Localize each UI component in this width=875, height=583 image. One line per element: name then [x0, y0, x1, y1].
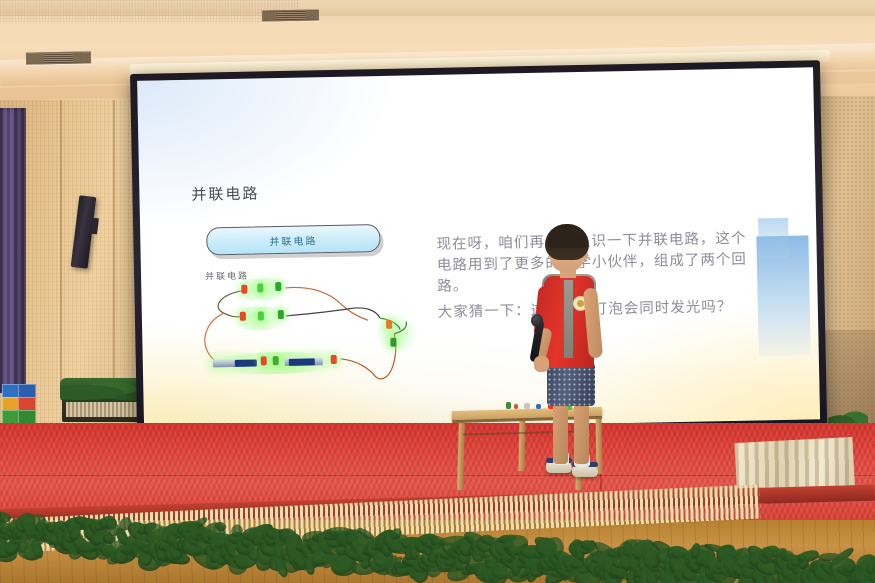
led-green — [275, 282, 281, 291]
led-red — [261, 356, 267, 365]
prop-component — [514, 404, 518, 409]
hair-fringe — [547, 232, 587, 248]
led-red — [240, 312, 246, 321]
led-screen: 并联电路 并联电路 并联电路 — [130, 60, 827, 442]
leg — [574, 402, 589, 464]
prop-component — [506, 402, 511, 409]
battery-cell — [235, 360, 257, 367]
wall-seam — [113, 100, 115, 400]
right-hand — [534, 356, 549, 372]
slide-heading-pill-label: 并联电路 — [207, 225, 379, 254]
screen-glow-top-left — [137, 76, 400, 231]
microphone-head-icon — [531, 314, 543, 327]
led-green — [257, 283, 263, 292]
stage-curtain — [0, 108, 26, 393]
led-green — [390, 338, 396, 347]
shorts — [547, 362, 595, 406]
led-green — [273, 356, 279, 365]
led-green — [278, 310, 284, 319]
leg — [553, 402, 568, 464]
led-orange — [386, 320, 392, 329]
circuit-wires — [189, 275, 441, 390]
photo-scene: 并联电路 并联电路 并联电路 — [0, 0, 875, 583]
led-red — [331, 355, 337, 364]
led-red — [241, 285, 247, 294]
led-green — [258, 311, 264, 320]
slide-title: 并联电路 — [191, 182, 259, 204]
toy-block-stack — [2, 384, 36, 426]
ceiling-texture — [0, 0, 300, 22]
ceiling-vent-icon — [262, 10, 319, 22]
student-presenter — [520, 224, 612, 496]
parallel-circuit-photo — [189, 275, 441, 390]
slide-heading-pill: 并联电路 — [206, 224, 381, 255]
battery-cell — [289, 358, 315, 366]
screen-blue-patch — [758, 218, 789, 259]
shorts-pattern — [547, 362, 595, 406]
vest-emblem-center — [577, 300, 584, 307]
wall-seam — [60, 100, 62, 400]
foliage-border — [0, 494, 875, 574]
curtain-folds — [0, 108, 26, 393]
ceiling-vent-icon — [26, 51, 91, 64]
screen-surface: 并联电路 并联电路 并联电路 — [137, 67, 820, 432]
vest-opening — [564, 280, 573, 358]
